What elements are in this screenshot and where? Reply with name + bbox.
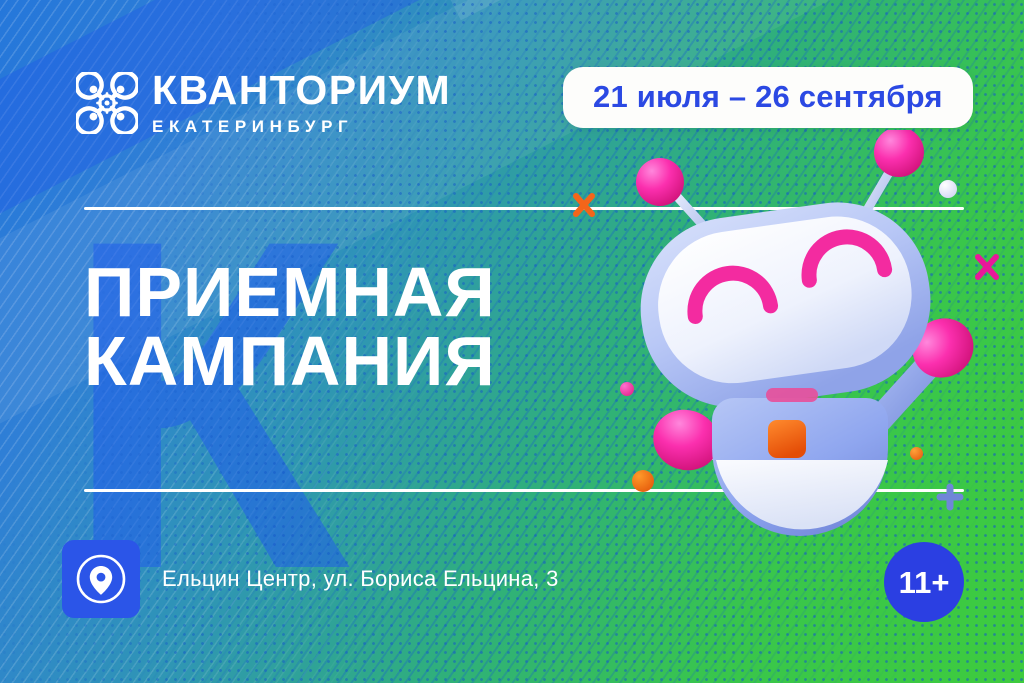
robot-body xyxy=(712,388,888,536)
age-rating-badge: 11+ xyxy=(884,542,964,622)
page-title: ПРИЕМНАЯ КАМПАНИЯ xyxy=(84,258,496,397)
sphere-orange-large xyxy=(632,470,654,492)
location-icon-container xyxy=(62,540,140,618)
promo-banner: К xyxy=(0,0,1024,683)
headline-line-1: ПРИЕМНАЯ xyxy=(84,258,496,327)
sphere-pink-small xyxy=(620,382,634,396)
logo-subtitle: ЕКАТЕРИНБУРГ xyxy=(152,118,451,135)
robot-chest-button xyxy=(768,420,806,458)
kvantorium-atom-gear-icon xyxy=(76,72,138,134)
map-pin-icon xyxy=(75,553,127,605)
sphere-orange-small xyxy=(910,447,923,460)
headline-line-2: КАМПАНИЯ xyxy=(84,327,496,396)
venue-address[interactable]: Ельцин Центр, ул. Бориса Ельцина, 3 xyxy=(62,540,559,618)
age-rating-label: 11+ xyxy=(899,567,950,598)
plus-mark-blue-icon xyxy=(936,483,964,511)
x-mark-orange-icon xyxy=(571,192,597,218)
kvantorium-logo[interactable]: КВАНТОРИУМ ЕКАТЕРИНБУРГ xyxy=(76,70,451,135)
sphere-white-small xyxy=(939,180,957,198)
x-mark-pink-icon xyxy=(972,252,1002,282)
logo-title: КВАНТОРИУМ xyxy=(152,70,451,111)
venue-address-label: Ельцин Центр, ул. Бориса Ельцина, 3 xyxy=(162,566,559,592)
date-badge[interactable]: 21 июля – 26 сентября xyxy=(563,67,973,128)
date-badge-label: 21 июля – 26 сентября xyxy=(593,79,943,114)
